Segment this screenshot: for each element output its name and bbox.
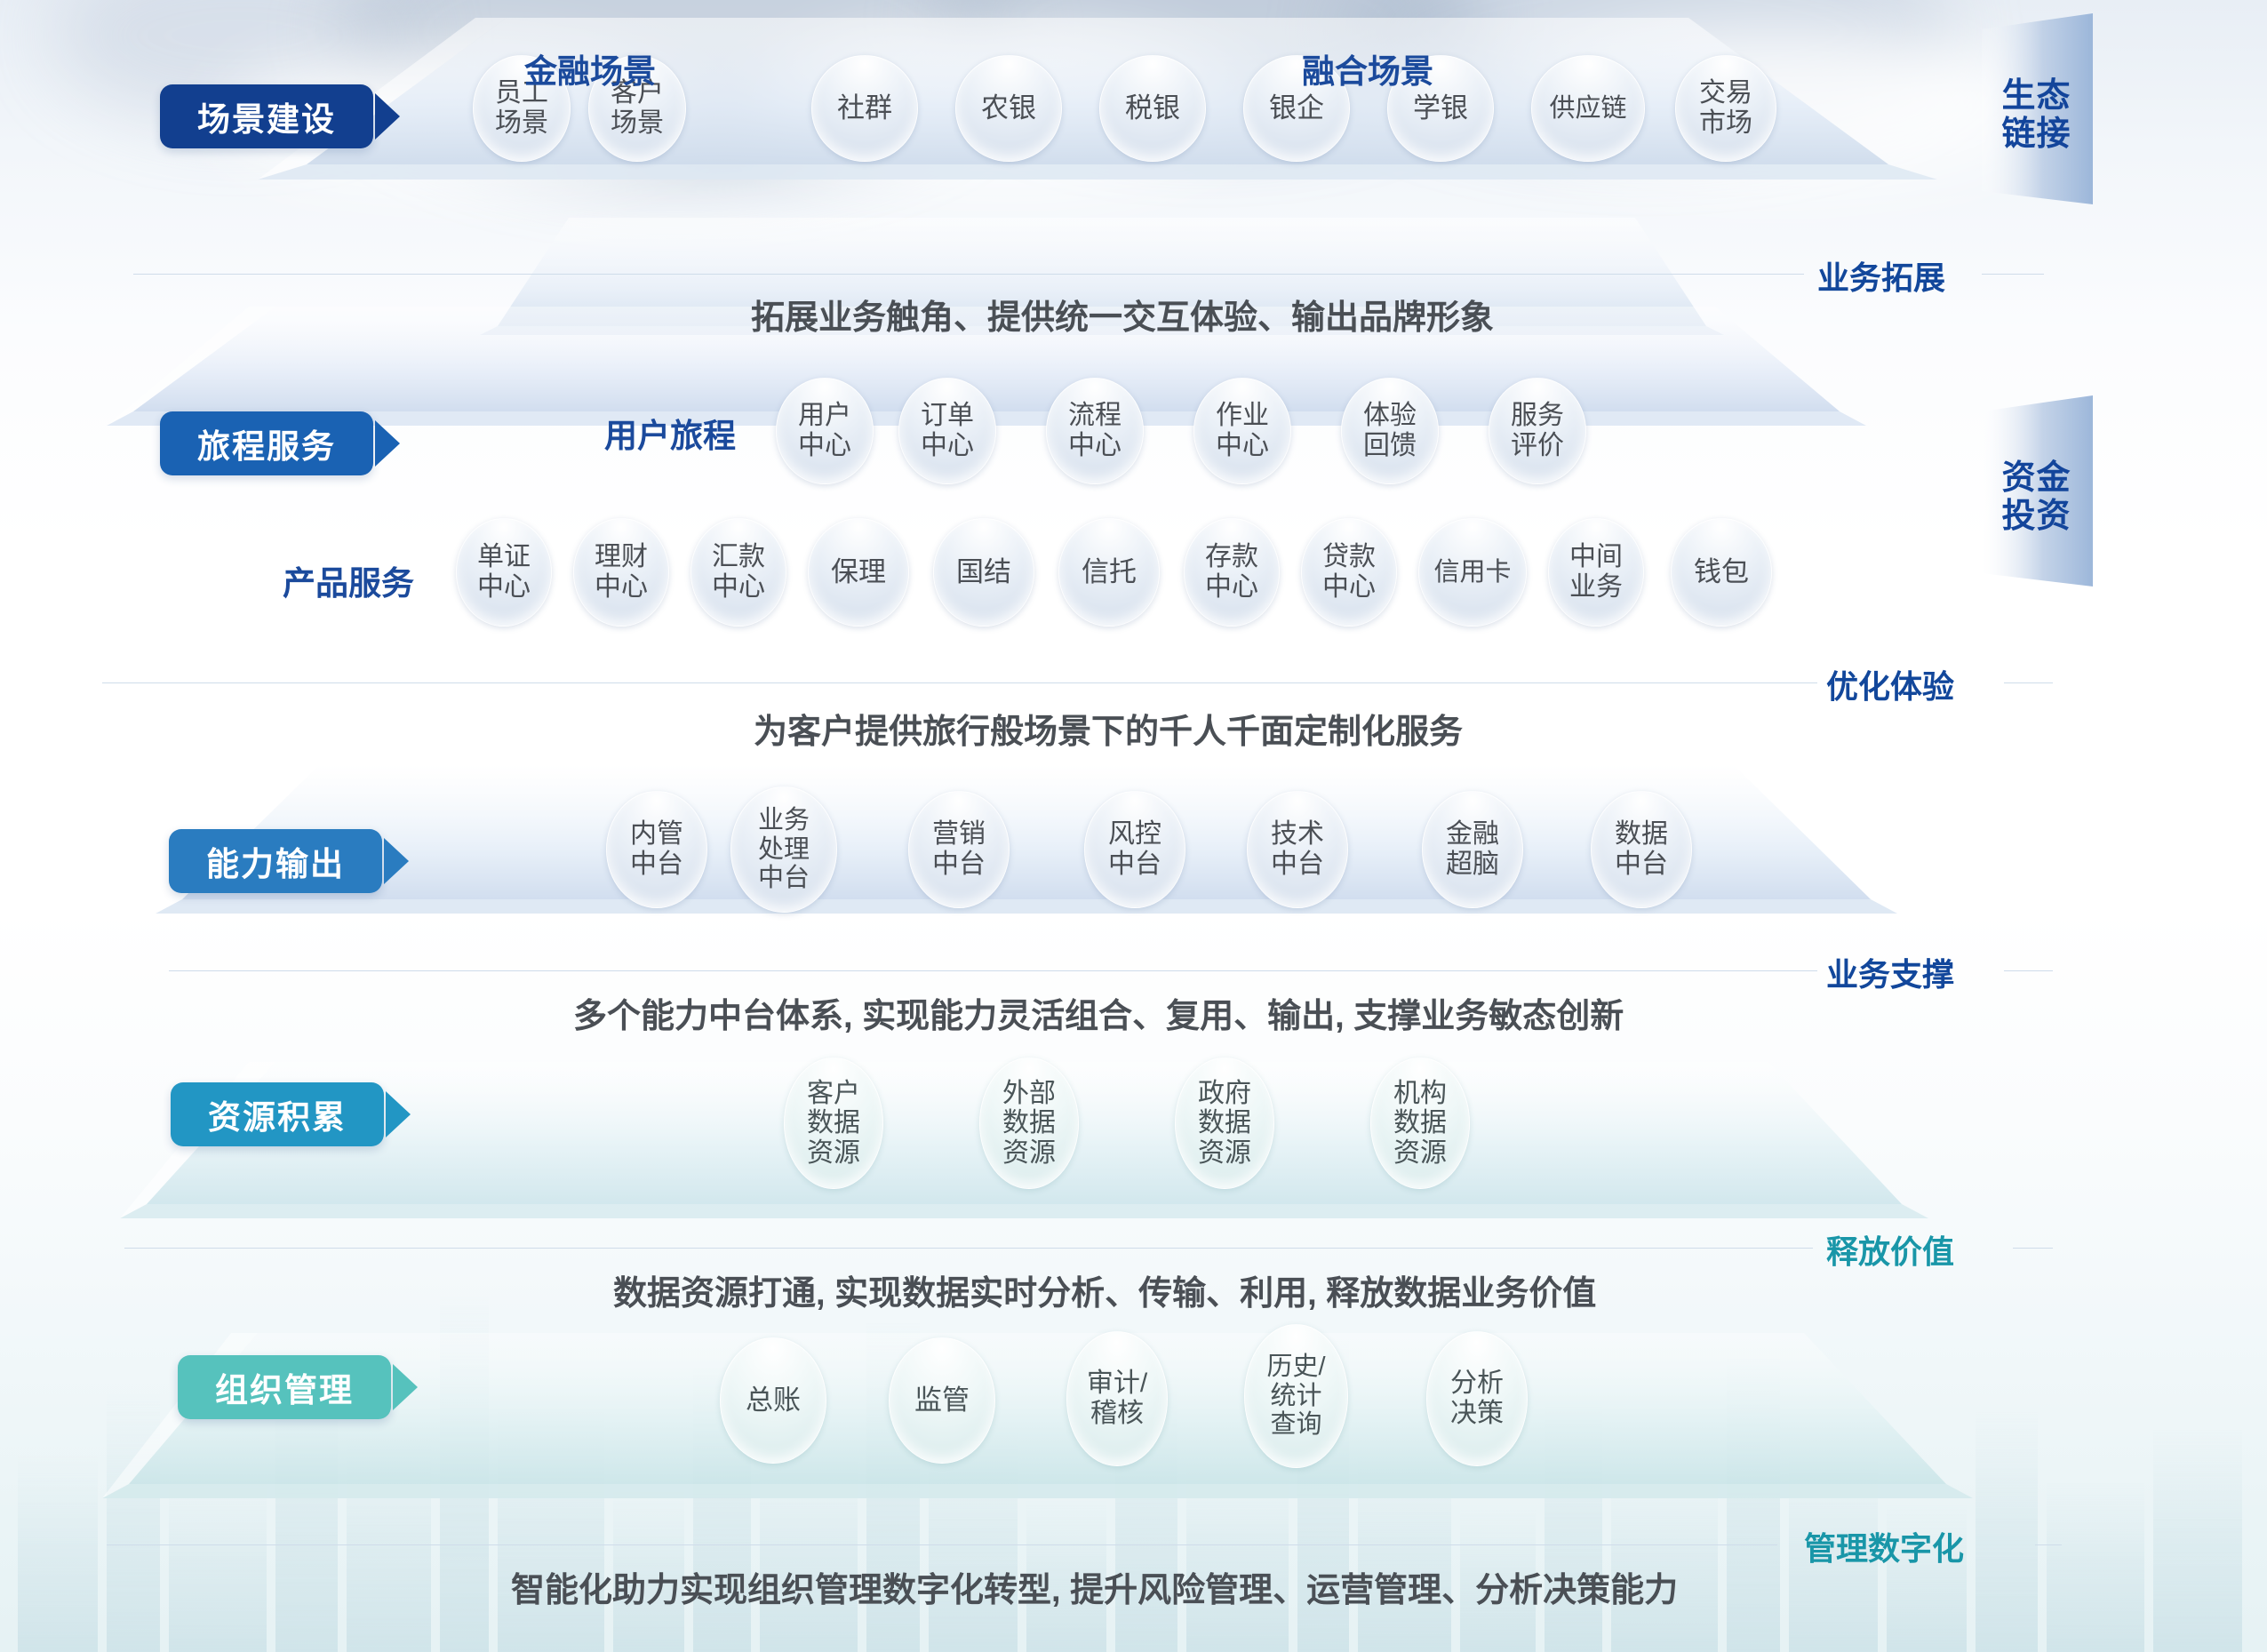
divider-rule-2 <box>102 682 1817 683</box>
side-banner-ecosystem-link: 生态 链接 <box>1955 13 2093 218</box>
node-credit-card[interactable]: 信用卡 <box>1418 518 1527 626</box>
tagline-scene-construction: 拓展业务触角、提供统一交互体验、输出品牌形象 <box>751 290 1494 339</box>
keyword-optimize-experience: 优化体验 <box>1826 661 1954 707</box>
side-banner-capital-investment: 资金 投资 <box>1955 395 2093 600</box>
divider-rule-5 <box>107 1544 1777 1545</box>
divider-rule-2b <box>2004 682 2053 683</box>
tier-tag-label: 场景建设 <box>197 92 336 140</box>
node-history-statistics-query[interactable]: 历史/统计查询 <box>1244 1324 1348 1468</box>
divider-rule-4 <box>124 1248 1813 1249</box>
node-trading-market[interactable]: 交易市场 <box>1675 55 1776 162</box>
tagline-resource-accumulation: 数据资源打通, 实现数据实时分析、传输、利用, 释放数据业务价值 <box>613 1265 1596 1314</box>
node-deposit-center[interactable]: 存款中心 <box>1184 518 1280 626</box>
node-order-center[interactable]: 订单中心 <box>898 378 996 484</box>
tag-arrow-icon <box>386 1091 411 1137</box>
node-government-data-resource[interactable]: 政府数据资源 <box>1175 1057 1274 1189</box>
tier-tag-label: 能力输出 <box>206 837 345 885</box>
node-external-data-resource[interactable]: 外部数据资源 <box>979 1057 1079 1189</box>
keyword-management-digitalization: 管理数字化 <box>1804 1523 1964 1569</box>
side-banner-line: 投资 <box>2001 498 2071 536</box>
node-factoring[interactable]: 保理 <box>808 518 909 626</box>
divider-rule-1b <box>1982 274 2044 275</box>
group-label-user-journey: 用户旅程 <box>604 409 736 457</box>
node-document-center[interactable]: 单证中心 <box>456 518 552 626</box>
node-international-settlement[interactable]: 国结 <box>933 518 1034 626</box>
side-banner-line: 资金 <box>2001 459 2071 498</box>
tag-arrow-icon <box>384 838 409 884</box>
tier-tag-label: 资源积累 <box>208 1090 347 1138</box>
tier-tag-resource-accumulation[interactable]: 资源积累 <box>171 1082 384 1146</box>
node-intermediary-business[interactable]: 中间业务 <box>1548 518 1644 626</box>
node-audit-inspection[interactable]: 审计/稽核 <box>1066 1331 1168 1466</box>
keyword-business-expansion: 业务拓展 <box>1817 252 1945 299</box>
node-data-midend[interactable]: 数据中台 <box>1591 791 1692 908</box>
node-business-process-midend[interactable]: 业务处理中台 <box>730 786 837 913</box>
tier-tag-journey-service[interactable]: 旅程服务 <box>160 411 373 475</box>
group-label-product-service: 产品服务 <box>283 556 414 604</box>
node-finance-brain[interactable]: 金融超脑 <box>1422 791 1523 908</box>
node-community[interactable]: 社群 <box>811 55 918 162</box>
tagline-journey-service: 为客户提供旅行般场景下的千人千面定制化服务 <box>754 704 1463 753</box>
keyword-release-value: 释放价值 <box>1826 1226 1954 1273</box>
keyword-business-support: 业务支撑 <box>1826 949 1954 995</box>
node-supply-chain[interactable]: 供应链 <box>1531 55 1645 162</box>
group-label-fusion-scene: 融合场景 <box>1302 44 1433 92</box>
tag-arrow-icon <box>375 420 400 467</box>
node-wallet[interactable]: 钱包 <box>1671 518 1772 626</box>
node-general-ledger[interactable]: 总账 <box>720 1337 826 1464</box>
divider-rule-3 <box>169 970 1817 971</box>
node-analysis-decision[interactable]: 分析决策 <box>1426 1331 1528 1466</box>
divider-rule-3b <box>2004 970 2053 971</box>
node-user-center[interactable]: 用户中心 <box>776 378 874 484</box>
tag-arrow-icon <box>393 1364 418 1410</box>
tier-tag-scene-construction[interactable]: 场景建设 <box>160 84 373 148</box>
node-trust[interactable]: 信托 <box>1058 518 1160 626</box>
tier-tag-label: 旅程服务 <box>197 419 336 467</box>
node-supervision[interactable]: 监管 <box>889 1337 995 1464</box>
node-loan-center[interactable]: 贷款中心 <box>1301 518 1397 626</box>
node-customer-data-resource[interactable]: 客户数据资源 <box>784 1057 883 1189</box>
tagline-capability-output: 多个能力中台体系, 实现能力灵活组合、复用、输出, 支撑业务敏态创新 <box>573 988 1624 1037</box>
group-label-finance-scene: 金融场景 <box>524 44 656 92</box>
node-internal-mgmt-midend[interactable]: 内管中台 <box>606 791 707 908</box>
tagline-organization-management: 智能化助力实现组织管理数字化转型, 提升风险管理、运营管理、分析决策能力 <box>511 1562 1678 1611</box>
node-wealth-center[interactable]: 理财中心 <box>573 518 669 626</box>
node-remittance-center[interactable]: 汇款中心 <box>690 518 786 626</box>
tier-tag-label: 组织管理 <box>215 1363 354 1411</box>
node-risk-control-midend[interactable]: 风控中台 <box>1084 791 1185 908</box>
node-agriculture-bank[interactable]: 农银 <box>955 55 1062 162</box>
node-process-center[interactable]: 流程中心 <box>1046 378 1144 484</box>
node-service-evaluation[interactable]: 服务评价 <box>1489 378 1586 484</box>
tag-arrow-icon <box>375 93 400 140</box>
divider-rule-5b <box>2035 1544 2062 1545</box>
node-marketing-midend[interactable]: 营销中台 <box>908 791 1010 908</box>
tier-tag-capability-output[interactable]: 能力输出 <box>169 829 382 893</box>
node-tax-bank[interactable]: 税银 <box>1099 55 1206 162</box>
node-operation-center[interactable]: 作业中心 <box>1193 378 1291 484</box>
node-institution-data-resource[interactable]: 机构数据资源 <box>1370 1057 1470 1189</box>
divider-rule-1 <box>133 274 1804 275</box>
tier-tag-organization-management[interactable]: 组织管理 <box>178 1355 391 1419</box>
divider-rule-4b <box>2013 1248 2053 1249</box>
side-banner-line: 生态 <box>2001 77 2071 116</box>
node-technology-midend[interactable]: 技术中台 <box>1247 791 1348 908</box>
node-experience-feedback[interactable]: 体验回馈 <box>1341 378 1439 484</box>
side-banner-line: 链接 <box>2001 116 2071 154</box>
architecture-diagram: 生态 链接 资金 投资 场景建设 金融场景 融合场景 员工场景 客 <box>0 0 2267 1652</box>
